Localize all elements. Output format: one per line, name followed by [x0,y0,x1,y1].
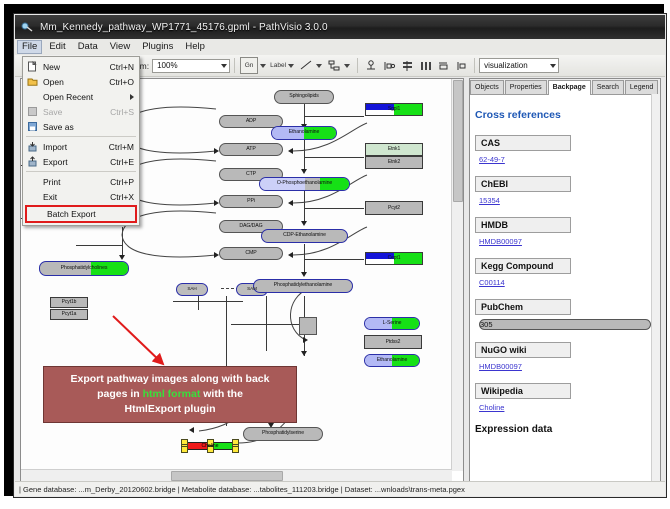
node-label: Etnk1 [388,147,400,152]
stack-vertical-icon[interactable] [399,58,415,73]
menu-view[interactable]: View [105,40,135,54]
menu-item-label: Save as [43,122,74,132]
node-label: DAG/DAG [239,224,262,229]
pathway-node-phosphatidylserine[interactable]: Phosphatidylserine [243,427,323,441]
chevron-down-icon-2 [550,64,556,68]
node-label: O-Phosphoethanolamine [277,181,332,186]
pathway-node-atp[interactable]: ATP [219,143,283,156]
xref-label-wikipedia: Wikipedia [475,383,571,399]
status-bar: | Gene database: ...m_Derby_20120602.bri… [15,481,665,496]
node-label: Cept1 [388,256,401,261]
node-label: Phosphatidylcholines [61,266,108,271]
label-tool-icon[interactable]: Label [270,58,286,73]
menu-item-export[interactable]: Export Ctrl+E [23,154,139,169]
interaction-dropdown-chevron-icon[interactable] [344,64,350,68]
new-file-icon [25,60,40,73]
pathway-node-o-phosphoethanolamine[interactable]: O-Phosphoethanolamine [259,177,350,191]
pathway-node-phosphatidylcholines[interactable]: Phosphatidylcholines [39,261,129,276]
pathway-node-ethanolamine-2[interactable]: Ethanolamine [364,354,420,367]
xref-value-cas: 62-49-7 [479,155,651,164]
resize-handle-se[interactable] [232,446,239,453]
blank-icon-slot-3 [25,190,40,203]
align-center-icon[interactable] [381,58,397,73]
canvas-horizontal-scrollbar[interactable] [21,469,452,481]
node-label: ADP [246,119,256,124]
callout-highlight: html format [143,388,201,400]
node-label: Pcyt2 [388,206,400,211]
menu-item-open[interactable]: Open Ctrl+O [23,74,139,89]
xref-label-kegg: Kegg Compound [475,258,571,274]
edge [304,157,364,158]
tab-legend[interactable]: Legend [625,80,658,94]
pathway-node-l-serine[interactable]: L-Serine [364,317,420,330]
menu-plugins[interactable]: Plugins [137,40,178,54]
menu-item-open-recent[interactable]: Open Recent [23,89,139,104]
import-icon [25,140,40,153]
node-label: Choline [202,443,219,449]
pathway-node-phosphatidylethanolamine[interactable]: Phosphatidylethanolamine [253,279,353,293]
callout-line2-post: with the [200,388,243,400]
arrowhead [301,221,307,226]
pathway-node-ethanolamine[interactable]: Ethanolamine [271,126,337,140]
menu-item-exit[interactable]: Exit Ctrl+X [23,189,139,204]
gene-dropdown-chevron-icon[interactable] [260,64,266,68]
blank-icon-slot-2 [25,175,40,188]
menu-item-shortcut: Ctrl+N [110,62,134,72]
xref-label-nugo: NuGO wiki [475,342,571,358]
gene-node-etnk2[interactable]: Etnk2 [365,156,423,169]
node-label: Phosphatidylethanolamine [274,283,332,288]
submenu-chevron-icon [130,94,134,100]
export-icon [25,155,40,168]
node-label: Pcyt1a [62,312,77,317]
blank-icon-slot [25,90,40,103]
node-label: Ptdss2 [386,340,401,345]
menu-item-label: Export [43,157,68,167]
pathway-node-sah[interactable]: SAH [176,283,208,296]
node-label: SAH [187,287,196,292]
tab-properties[interactable]: Properties [505,80,547,94]
side-panel-tabs[interactable]: Objects Properties Backpage Search Legen… [470,79,660,95]
xref-label-pubchem: PubChem [475,299,571,315]
pathway-node-cdp-ethanolamine[interactable]: CDP-Ethanolamine [261,229,348,243]
gene-node-pcyt1a[interactable]: Pcyt1a [50,309,88,320]
arrowhead [301,169,307,174]
node-label: Ethanolamine [377,358,408,363]
menu-item-shortcut: Ctrl+E [110,157,134,167]
label-button-label: Label [270,62,286,69]
edge [304,259,364,260]
menu-file[interactable]: File [17,40,42,54]
node-label: Phosphatidylserine [262,431,304,436]
menu-item-label: New [43,62,60,72]
gene-node-ptdss2[interactable]: Ptdss2 [364,335,422,349]
xref-link-wikipedia[interactable]: Choline [479,403,504,412]
node-label: Ethanolamine [289,130,320,135]
xref-value-hmdb: HMDB00097 [479,237,651,246]
arrowhead [303,337,308,343]
pathvisio-window: Mm_Kennedy_pathway_WP1771_45176.gpml - P… [13,13,667,498]
node-label: CMP [245,251,256,256]
menu-item-label: Print [43,177,60,187]
tab-search[interactable]: Search [592,80,624,94]
backpage-content: Cross references CAS 62-49-7 ChEBI 15354… [475,99,651,479]
menu-item-new[interactable]: New Ctrl+N [23,59,139,74]
node-label: PPi [247,199,255,204]
arrowhead [301,272,307,277]
gene-node-etnk1[interactable]: Etnk1 [365,143,423,156]
gene-node-cept1[interactable]: Cept1 [365,252,423,265]
menu-item-import[interactable]: Import Ctrl+M [23,139,139,154]
menu-bar[interactable]: File Edit Data View Plugins Help [15,39,665,56]
node-label: Etnk2 [388,160,400,165]
cross-references-heading: Cross references [475,109,651,121]
annotation-callout: Export pathway images along with back pa… [43,366,297,423]
file-menu-dropdown[interactable]: New Ctrl+N Open Ctrl+O Open Recent Save … [22,56,140,226]
menu-item-shortcut: Ctrl+O [109,77,134,87]
toolbar-separator-3 [474,58,475,73]
node-label: SAM [247,287,257,292]
xref-link-chebi[interactable]: 15354 [479,196,500,205]
node-label: ATP [246,147,255,152]
visualization-combo[interactable]: visualization [479,58,559,73]
node-label: Pcyt1b [62,300,77,305]
distribute-horizontal-icon[interactable] [417,58,433,73]
menu-item-shortcut: Ctrl+M [109,142,134,152]
label-dropdown-chevron-icon[interactable] [288,64,294,68]
toolbar-separator [234,58,235,73]
node-label: Sphingolipids [289,94,319,99]
scroll-thumb[interactable] [171,471,283,481]
menu-item-label: Batch Export [47,209,96,219]
edge [304,116,364,117]
blank-icon-slot-4 [29,208,44,221]
callout-line-3: HtmlExport plugin [125,402,216,417]
gene-product-tool-icon[interactable]: Gn [240,57,258,74]
status-text: | Gene database: ...m_Derby_20120602.bri… [19,485,465,494]
xref-link-kegg[interactable]: C00114 [479,278,505,287]
gene-node-pcyt2[interactable]: Pcyt2 [365,201,423,215]
xref-value-chebi: 15354 [479,196,651,205]
menu-item-label: Exit [43,192,57,202]
menu-item-save-as[interactable]: Save as [23,119,139,134]
edge [304,191,305,223]
tab-objects[interactable]: Objects [470,80,504,94]
align-bottom-icon[interactable] [435,58,451,73]
xref-label-cas: CAS [475,135,571,151]
pathway-node-cmp[interactable]: CMP [219,247,283,260]
selected-node-choline[interactable]: Choline [181,439,239,453]
menu-item-shortcut: Ctrl+P [110,177,134,187]
pathvisio-icon [21,21,34,34]
node-label: CTP [246,172,256,177]
edge [304,104,305,126]
xref-value-wikipedia: Choline [479,403,651,412]
open-folder-icon [25,75,40,88]
visualization-value: visualization [484,61,528,70]
xref-link-hmdb[interactable]: HMDB00097 [479,237,522,246]
xref-link-nugo[interactable]: HMDB00097 [479,362,522,371]
xref-label-hmdb: HMDB [475,217,571,233]
xref-link-cas[interactable]: 62-49-7 [479,155,505,164]
window-title: Mm_Kennedy_pathway_WP1771_45176.gpml - P… [40,22,328,33]
edge [304,208,364,209]
menu-item-print[interactable]: Print Ctrl+P [23,174,139,189]
canvas-vertical-scrollbar[interactable] [451,79,463,471]
xref-label-chebi: ChEBI [475,176,571,192]
menu-help[interactable]: Help [180,40,210,54]
pathway-node-ppi[interactable]: PPi [219,195,283,208]
gene-button-label: Gn [245,62,254,69]
line-tool-icon[interactable] [298,58,314,73]
gene-node-pcyt1b[interactable]: Pcyt1b [50,297,88,308]
gene-node-sgpl1[interactable]: Sgpl1 [365,103,423,116]
menu-separator [26,136,136,137]
node-label: Sgpl1 [388,107,400,112]
tab-backpage[interactable]: Backpage [548,80,591,95]
title-bar: Mm_Kennedy_pathway_WP1771_45176.gpml - P… [15,15,665,39]
menu-item-label: Open Recent [43,92,93,102]
line-dropdown-chevron-icon[interactable] [316,64,322,68]
interaction-tool-icon[interactable] [326,58,342,73]
menu-edit[interactable]: Edit [44,40,70,54]
align-top-icon[interactable] [363,58,379,73]
xref-value-pubchem: 305 [479,319,651,330]
chevron-down-icon [221,64,227,68]
side-panel: Objects Properties Backpage Search Legen… [469,78,661,482]
menu-item-batch-export[interactable]: Batch Export [25,205,137,223]
scroll-thumb[interactable] [453,80,463,202]
resize-handle-sw[interactable] [181,446,188,453]
side-panel-scrollbar[interactable] [651,94,660,481]
expression-data-heading: Expression data [475,424,651,435]
menu-item-shortcut: Ctrl+S [110,107,134,117]
edge [173,301,243,302]
node-label: CDP-Ethanolamine [283,233,326,238]
menu-separator-2 [26,171,136,172]
callout-line-1: Export pathway images along with back [71,372,270,387]
pathway-anchor-box[interactable] [299,317,317,335]
stack-left-icon[interactable] [453,58,469,73]
xref-value-kegg: C00114 [479,278,651,287]
menu-data[interactable]: Data [73,40,103,54]
pathway-node-sphingolipids[interactable]: Sphingolipids [274,90,334,104]
menu-item-label: Open [43,77,64,87]
edge [304,139,305,171]
arrowhead [189,427,194,433]
node-label: L-Serine [383,321,402,326]
save-as-icon [25,120,40,133]
menu-item-save: Save Ctrl+S [23,104,139,119]
menu-item-label: Import [43,142,67,152]
zoom-combo[interactable]: 100% [152,59,230,73]
xref-value-nugo: HMDB00097 [479,362,651,371]
menu-item-shortcut: Ctrl+X [110,192,134,202]
callout-line2-pre: pages in [97,388,143,400]
save-icon [25,105,40,118]
selected-node-body: Choline [184,442,236,450]
callout-line-2: pages in html format with the [97,387,243,402]
zoom-value: 100% [157,61,177,70]
menu-item-label: Save [43,107,62,117]
window-outer-frame: Mm_Kennedy_pathway_WP1771_45176.gpml - P… [4,4,664,496]
toolbar-separator-2 [357,58,358,73]
